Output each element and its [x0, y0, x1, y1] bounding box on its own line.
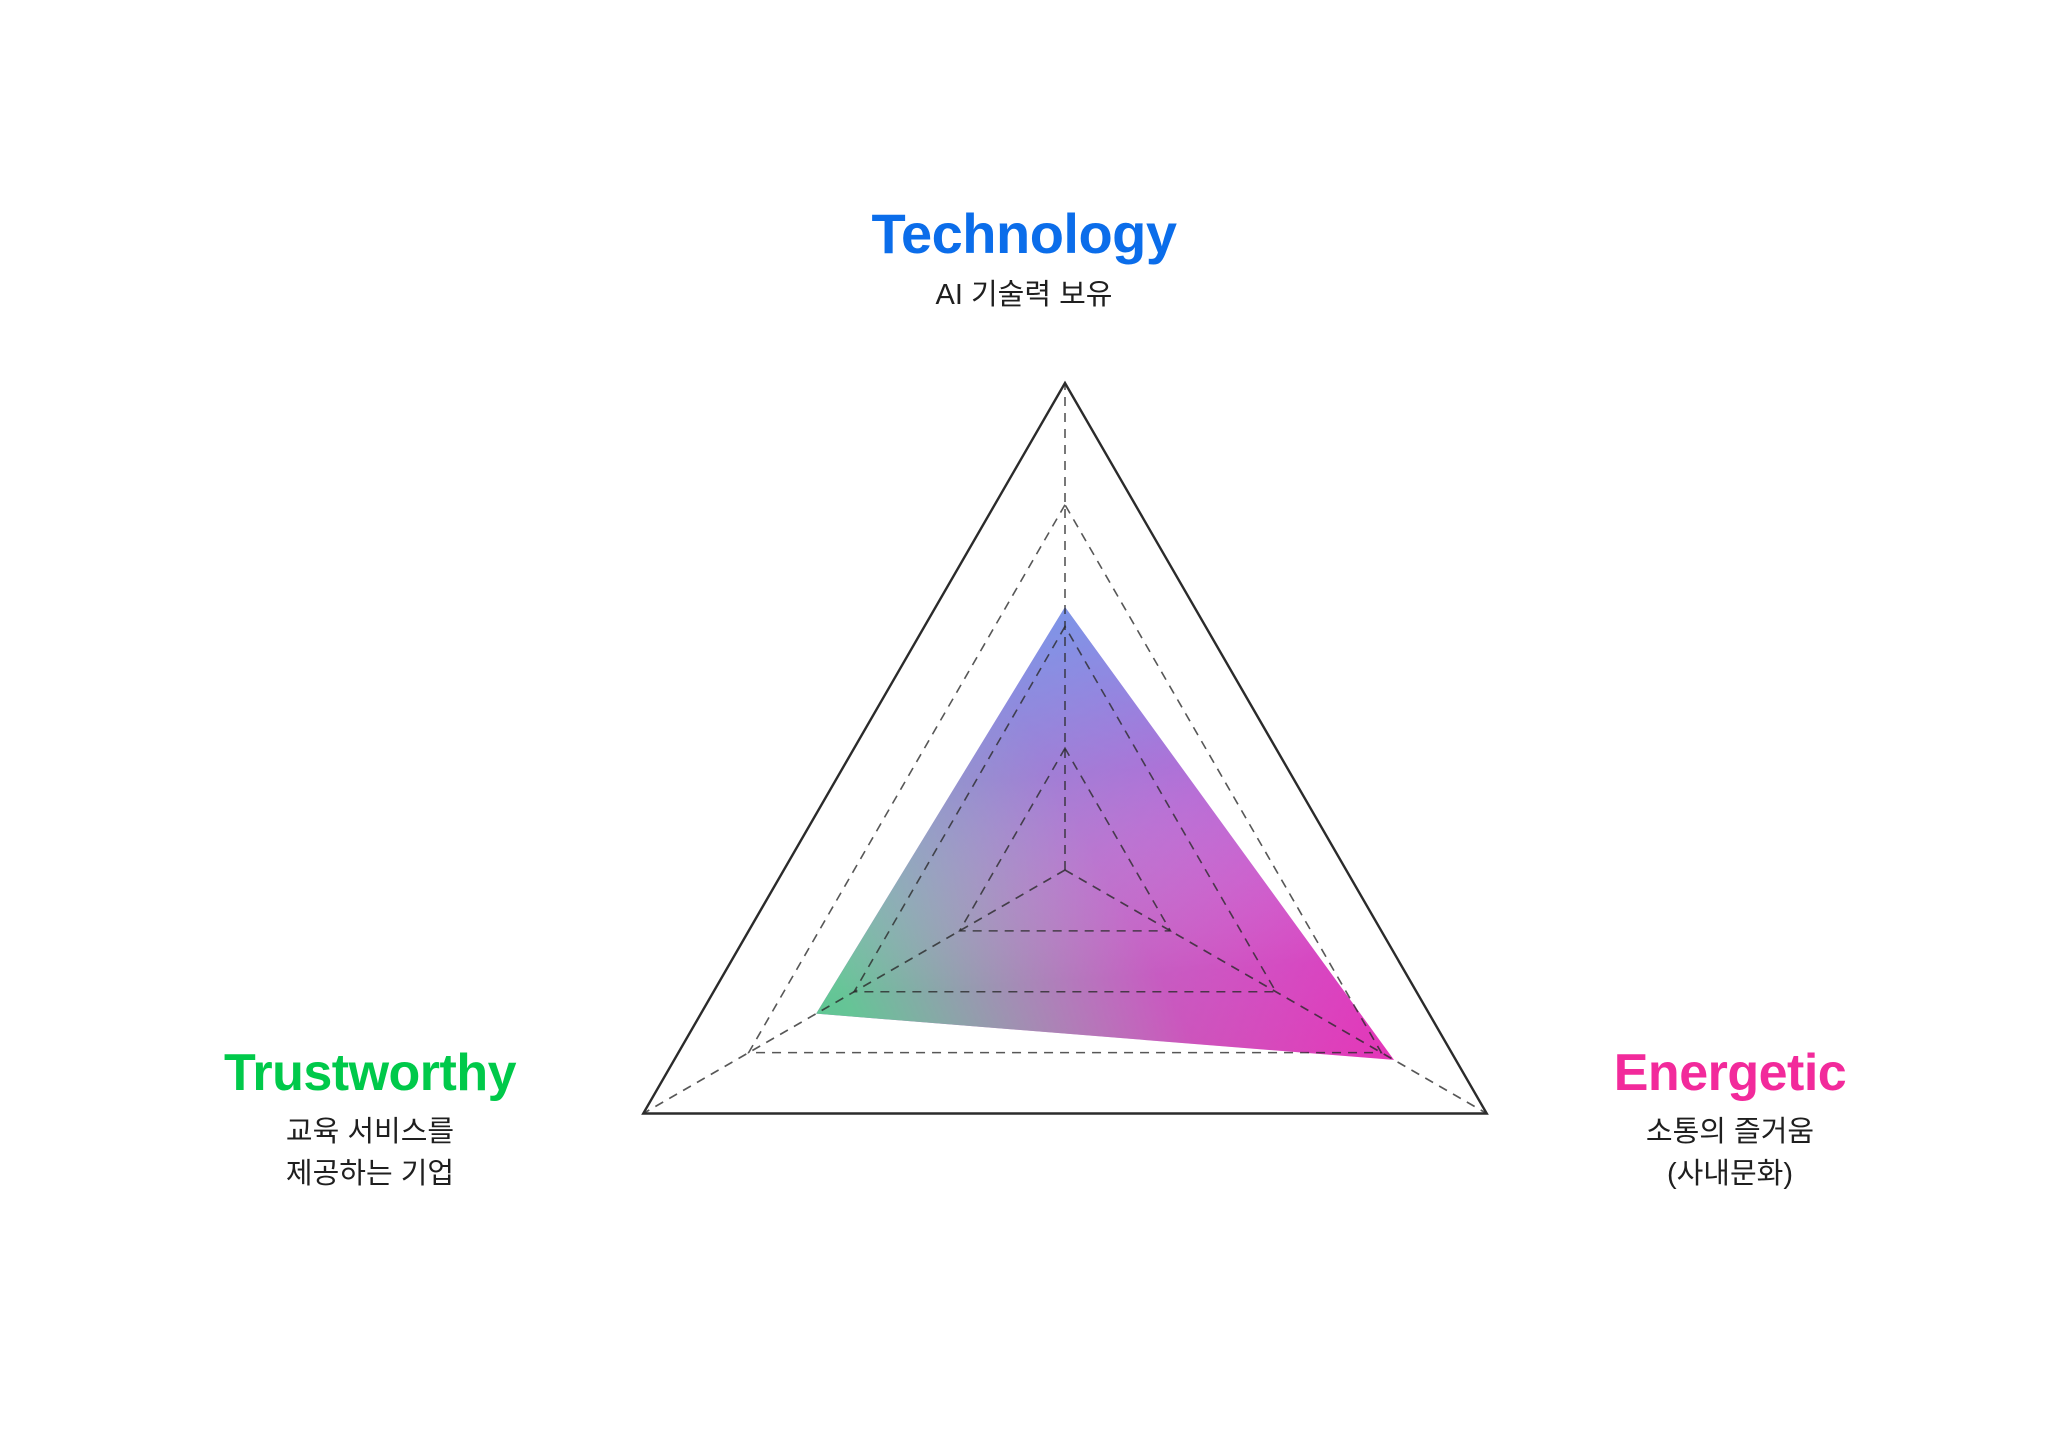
- radar-data-polygon: [500, 350, 1600, 1170]
- axis-title-energetic: Energetic: [1480, 1046, 1980, 1101]
- axis-subtitle-energetic-line-1: 소통의 즐거움: [1480, 1111, 1980, 1153]
- axis-subtitle-trustworthy-line-2: 제공하는 기업: [100, 1153, 640, 1195]
- chart-canvas: Technology AI 기술력 보유 Trustworthy 교육 서비스를…: [0, 0, 2048, 1448]
- axis-label-energetic: Energetic 소통의 즐거움 (사내문화): [1480, 1046, 1980, 1195]
- axis-subtitle-technology-line-1: AI 기술력 보유: [0, 274, 2048, 316]
- axis-subtitle-energetic: 소통의 즐거움 (사내문화): [1480, 1111, 1980, 1195]
- axis-subtitle-energetic-line-2: (사내문화): [1480, 1153, 1980, 1195]
- axis-subtitle-trustworthy: 교육 서비스를 제공하는 기업: [100, 1111, 640, 1195]
- axis-label-trustworthy: Trustworthy 교육 서비스를 제공하는 기업: [100, 1046, 640, 1195]
- axis-title-technology: Technology: [0, 205, 2048, 264]
- axis-title-trustworthy: Trustworthy: [100, 1046, 640, 1101]
- axis-label-technology: Technology AI 기술력 보유: [0, 205, 2048, 316]
- axis-subtitle-trustworthy-line-1: 교육 서비스를: [100, 1111, 640, 1153]
- axis-subtitle-technology: AI 기술력 보유: [0, 274, 2048, 316]
